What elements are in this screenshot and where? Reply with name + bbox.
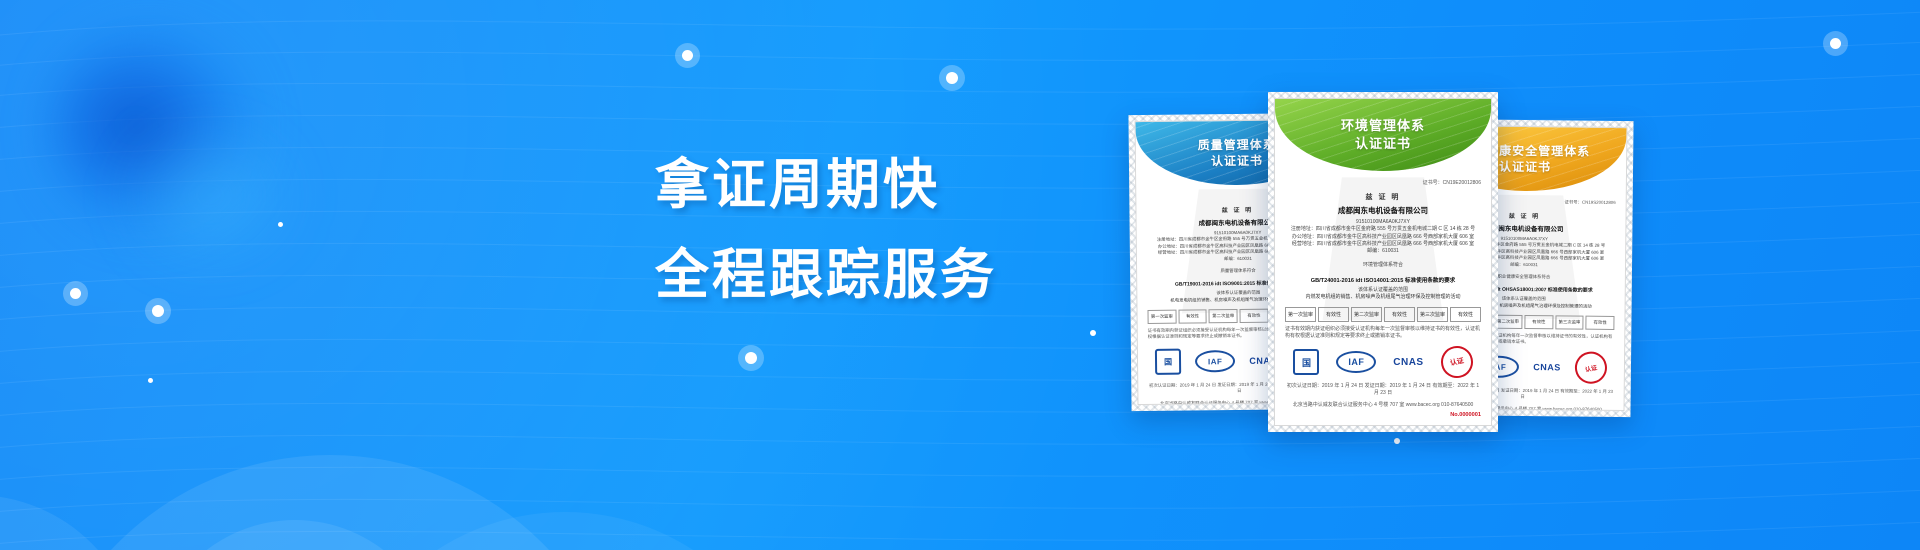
certificate-address-1: 注册地址：四川省成都市金牛区金府路 555 号万贯五金机电城二期 C 区 14 … bbox=[1285, 226, 1481, 233]
certificate-company: 成都闽东电机设备有限公司 bbox=[1285, 205, 1481, 216]
headline-line-2: 全程跟踪服务 bbox=[655, 230, 1175, 320]
bottom-circle-decoration-4 bbox=[330, 512, 800, 550]
serial-label: 证书号： bbox=[1564, 199, 1582, 204]
audit-box: 第三次监审 bbox=[1417, 307, 1448, 322]
audit-box: 第一次监审 bbox=[1285, 307, 1316, 322]
iaf-seal-icon: IAF bbox=[1336, 351, 1376, 373]
certificate-audit-boxes: 第一次监审 有效性 第二次监审 有效性 第三次监审 有效性 bbox=[1285, 307, 1481, 322]
bottom-circle-decoration-3 bbox=[150, 520, 440, 550]
audit-box: 第二次监审 bbox=[1351, 307, 1382, 322]
audit-box: 第二次监审 bbox=[1209, 309, 1238, 323]
bottom-circle-decoration-2 bbox=[0, 495, 140, 550]
certificate-seals: 国 IAF CNAS 认证 bbox=[1285, 346, 1481, 378]
certificate-header-environment: 环境管理体系 认证证书 bbox=[1275, 99, 1491, 171]
audit-box: 第三次监审 bbox=[1555, 315, 1584, 329]
certificate-address-2: 办公地址：四川省成都市金牛区高科技产业园区凤凰路 666 号西部家机大厦 606… bbox=[1285, 234, 1481, 241]
cnca-seal-icon: 国 bbox=[1293, 349, 1319, 375]
cnca-seal-icon: 国 bbox=[1155, 349, 1181, 375]
banner-headline: 拿证周期快 全程跟踪服务 bbox=[655, 140, 1175, 320]
headline-line-1: 拿证周期快 bbox=[655, 140, 1175, 230]
red-stamp-icon: 认证 bbox=[1572, 349, 1610, 387]
floating-dot-7 bbox=[1830, 38, 1841, 49]
certificate-header-line1: 环境管理体系 bbox=[1341, 117, 1425, 135]
certificate-card-environment[interactable]: 环境管理体系 认证证书 证书号：CN19E20012806 兹 证 明 成都闽东… bbox=[1268, 92, 1498, 432]
promo-banner: 拿证周期快 全程跟踪服务 质量管理体系 认证证书 证书号：CN19C200128… bbox=[0, 0, 1920, 550]
audit-box: 有效性 bbox=[1318, 307, 1349, 322]
floating-dot-2 bbox=[70, 288, 81, 299]
audit-box: 有效性 bbox=[1178, 309, 1207, 323]
serial-value: CN19S20012806 bbox=[1582, 200, 1616, 205]
certificate-scope-label: 该体系认证覆盖的范围 bbox=[1285, 287, 1481, 294]
certificate-group: 质量管理体系 认证证书 证书号：CN19C20012806 兹 证 明 成都闽东… bbox=[1120, 80, 1840, 480]
floating-dot-3 bbox=[278, 222, 283, 227]
floating-dot-9 bbox=[1090, 330, 1096, 336]
audit-box: 有效性 bbox=[1450, 307, 1481, 322]
certificate-standard: GB/T24001-2016 idt ISO14001:2015 标准使用条款的… bbox=[1285, 276, 1481, 284]
iaf-seal-icon: IAF bbox=[1195, 350, 1235, 372]
audit-box: 第一次监审 bbox=[1147, 310, 1176, 324]
floating-dot-8 bbox=[745, 352, 757, 364]
certificate-dates: 初次认证日期：2019 年 1 月 24 日 发证日期：2019 年 1 月 2… bbox=[1285, 383, 1481, 397]
bottom-circle-decoration-1 bbox=[30, 455, 630, 550]
audit-box: 有效性 bbox=[1384, 307, 1415, 322]
certificate-address-3: 经营地址：四川省成都市金牛区高科技产业园区凤凰路 666 号西部家机大厦 606… bbox=[1285, 241, 1481, 248]
certificate-foot-note: 证书有效期内获证组织必须接受认证机构每年一次监督审核以维持证书的有效性，认证机构… bbox=[1285, 326, 1481, 340]
certificate-header-line2: 认证证书 bbox=[1355, 135, 1411, 153]
certificate-scope: 内燃发电机组的销售、机房噪声及机组尾气治理环保及控制管理的活动 bbox=[1285, 294, 1481, 301]
cnas-seal-icon: CNAS bbox=[1533, 362, 1561, 372]
certificate-title: 兹 证 明 bbox=[1285, 192, 1481, 202]
certificate-body-environment: 证书号：CN19E20012806 兹 证 明 成都闽东电机设备有限公司 915… bbox=[1275, 171, 1491, 418]
glow-blob-decoration-secondary bbox=[120, 120, 300, 270]
serial-value: CN19E20012806 bbox=[1443, 180, 1481, 186]
floating-dot-5 bbox=[946, 72, 958, 84]
audit-box: 第二次监审 bbox=[1494, 315, 1523, 329]
audit-box: 有效性 bbox=[1240, 309, 1269, 323]
certificate-issuer: 北京当路中认威友联合认证服务中心 4 号楼 707 室 www.bacec.or… bbox=[1285, 402, 1481, 409]
certificate-std-note: 环境管理体系符合 bbox=[1285, 262, 1481, 269]
audit-box: 有效性 bbox=[1524, 315, 1553, 329]
floating-dot-11 bbox=[148, 378, 153, 383]
certificate-postcode: 邮编：610031 bbox=[1285, 248, 1481, 255]
certificate-header-line2: 认证证书 bbox=[1211, 153, 1263, 170]
floating-dot-4 bbox=[682, 50, 693, 61]
cnas-seal-icon: CNAS bbox=[1393, 357, 1423, 368]
serial-label: 证书号： bbox=[1423, 180, 1443, 186]
red-stamp-icon: 认证 bbox=[1438, 343, 1476, 381]
certificate-number: No.0000001 bbox=[1285, 412, 1481, 418]
certificate-header-line2: 认证证书 bbox=[1499, 159, 1551, 176]
floating-dot-1 bbox=[152, 305, 164, 317]
certificate-header-line1: 质量管理体系 bbox=[1198, 137, 1276, 154]
audit-box: 有效性 bbox=[1586, 316, 1615, 330]
